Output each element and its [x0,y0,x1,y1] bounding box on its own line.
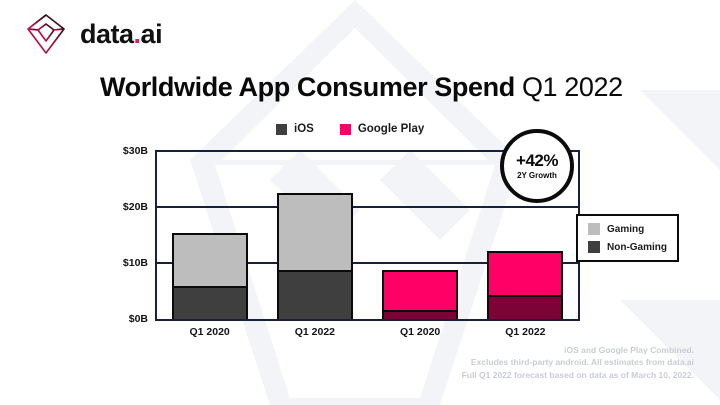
legend-item-google-play: Google Play [340,123,424,135]
stacked-bar[interactable] [277,193,353,319]
platform-legend: iOS Google Play [276,123,424,135]
brand-name: data.ai [80,19,162,50]
y-tick-20: $20B [123,201,148,213]
footnote-line-2: Excludes third-party android. All estima… [462,356,694,368]
slide-canvas: data.ai Worldwide App Consumer Spend Q1 … [0,0,720,405]
legend-swatch-gaming [588,223,600,235]
bar-segment-non-gaming[interactable] [174,286,246,319]
growth-badge: +42% 2Y Growth [500,129,574,203]
footnote-line-3: Full Q1 2022 forecast based on data as o… [462,369,694,381]
stacked-bar[interactable] [487,251,563,319]
bar-segment-gaming[interactable] [384,272,456,310]
y-tick-30: $30B [123,145,148,157]
title-light: Q1 2022 [522,72,623,102]
bar-group-ios-q1-2020 [157,152,262,319]
title-strong: Worldwide App Consumer Spend [100,72,515,102]
growth-badge-caption: 2Y Growth [517,172,557,180]
bar-segment-non-gaming[interactable] [384,310,456,319]
x-tick-3: Q1 2022 [473,326,578,338]
stacked-bar[interactable] [172,233,248,319]
bar-segment-non-gaming[interactable] [489,295,561,319]
footnote: iOS and Google Play Combined. Excludes t… [462,344,694,381]
bar-segment-gaming[interactable] [489,253,561,295]
stacked-bar[interactable] [382,270,458,319]
y-tick-10: $10B [123,257,148,269]
brand-logo: data.ai [22,10,162,58]
bar-group-google-play-q1-2020 [368,152,473,319]
page-title: Worldwide App Consumer Spend Q1 2022 [100,72,623,103]
bar-segment-gaming[interactable] [279,195,351,270]
legend-item-non-gaming: Non-Gaming [588,241,667,253]
legend-label-ios: iOS [294,123,314,135]
legend-swatch-google-play [340,124,351,135]
x-axis-labels: Q1 2020 Q1 2022 Q1 2020 Q1 2022 [157,326,578,338]
x-tick-2: Q1 2020 [368,326,473,338]
bar-group-ios-q1-2022 [262,152,367,319]
y-tick-0: $0B [129,313,148,325]
legend-item-ios: iOS [276,123,314,135]
legend-label-gaming: Gaming [607,224,644,235]
legend-swatch-ios [276,124,287,135]
x-tick-0: Q1 2020 [157,326,262,338]
category-legend: Gaming Non-Gaming [576,214,679,262]
legend-label-google-play: Google Play [358,123,424,135]
growth-badge-value: +42% [516,152,558,169]
y-axis-labels: $30B $20B $10B $0B [100,143,148,328]
bar-segment-gaming[interactable] [174,235,246,286]
legend-swatch-non-gaming [588,241,600,253]
legend-item-gaming: Gaming [588,223,667,235]
legend-label-non-gaming: Non-Gaming [607,242,667,253]
footnote-line-1: iOS and Google Play Combined. [462,344,694,356]
x-tick-1: Q1 2022 [262,326,367,338]
data-ai-diamond-logo-icon [22,10,70,58]
bar-segment-non-gaming[interactable] [279,270,351,319]
